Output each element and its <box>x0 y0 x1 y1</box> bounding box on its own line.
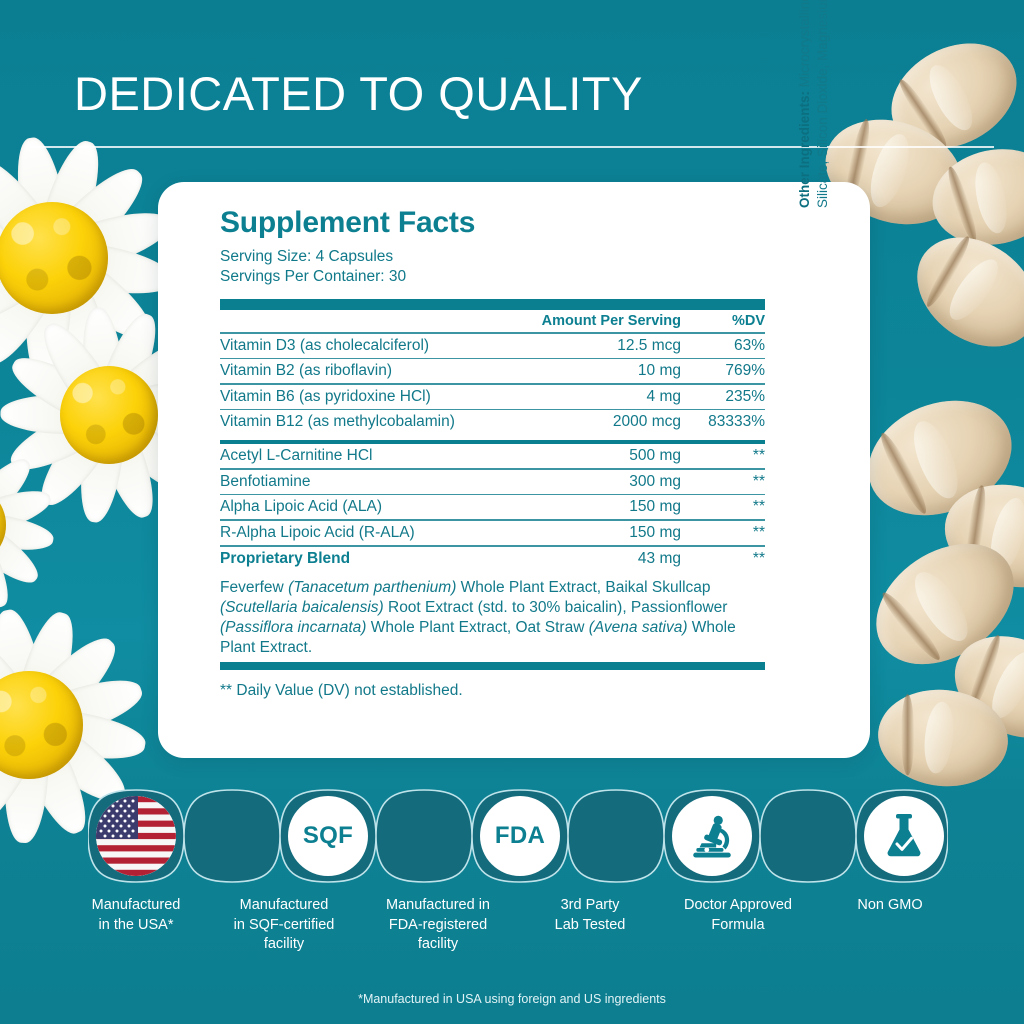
daisy-petal <box>5 346 119 432</box>
daisy-flower <box>0 128 182 388</box>
blend-description: Feverfew (Tanacetum parthenium) Whole Pl… <box>220 578 765 659</box>
daisy-petal <box>0 239 63 339</box>
daisy-petal <box>0 148 69 272</box>
oat-grain <box>873 683 1012 792</box>
supplement-facts-body: Supplement Facts Serving Size: 4 Capsule… <box>220 206 765 700</box>
daisy-petal <box>0 187 61 278</box>
daisy-petal <box>22 669 147 746</box>
badge-sqf-certified[interactable]: SQF <box>288 796 368 876</box>
daisy-petal <box>10 716 98 840</box>
nutrient-amount: 150 mg <box>537 521 687 545</box>
badge-doctor-approved[interactable] <box>864 796 944 876</box>
nutrient-amount: 10 mg <box>537 359 687 383</box>
badge-fda-registered[interactable]: FDA <box>480 796 560 876</box>
daisy-petal <box>9 606 83 731</box>
oat-grain <box>851 380 1024 536</box>
oat-grain <box>938 617 1024 758</box>
oat-grain <box>934 471 1024 601</box>
microscope-icon <box>687 811 737 861</box>
nutrient-name: Vitamin D3 (as cholecalciferol) <box>220 334 537 358</box>
table-header-row: Amount Per Serving %DV <box>220 310 765 332</box>
flask-check-icon <box>881 811 927 861</box>
nutrient-amount: 2000 mcg <box>537 410 687 434</box>
badge-caption-non-gmo: Non GMO <box>806 896 974 916</box>
daisy-petal <box>32 249 122 379</box>
badge-caption-sqf: Manufacturedin SQF-certifiedfacility <box>200 896 368 955</box>
compound-table: Acetyl L-Carnitine HCl 500 mg ** Benfoti… <box>220 444 765 570</box>
badge-caption-usa: Manufacturedin the USA* <box>52 896 220 935</box>
nutrient-dv: 63% <box>687 334 765 358</box>
daisy-petal <box>0 246 71 373</box>
column-header-dv: %DV <box>687 310 765 332</box>
nutrient-amount: 300 mg <box>537 470 687 494</box>
serving-size-line: Serving Size: 4 Capsules <box>220 247 765 267</box>
table-row: Acetyl L-Carnitine HCl 500 mg ** <box>220 444 765 468</box>
daisy-petal <box>36 156 154 273</box>
oat-grain <box>896 215 1024 369</box>
oat-grain <box>924 138 1024 256</box>
daisy-flower <box>0 430 60 620</box>
daisy-petal <box>91 307 167 422</box>
daisy-petal <box>0 620 46 738</box>
daisy-petal <box>75 412 128 524</box>
daisy-petal <box>2 724 50 843</box>
proprietary-blend-row: Proprietary Blend 43 mg ** <box>220 547 765 571</box>
daisy-petal <box>0 512 46 592</box>
daisy-petal <box>14 626 127 740</box>
table-row: Vitamin B2 (as riboflavin) 10 mg 769% <box>220 359 765 383</box>
table-row: R-Alpha Lipoic Acid (R-ALA) 150 mg ** <box>220 521 765 545</box>
dv-footnote: ** Daily Value (DV) not established. <box>220 682 765 700</box>
servings-per-container-line: Servings Per Container: 30 <box>220 267 765 287</box>
daisy-petal <box>46 201 176 279</box>
daisy-petal <box>0 606 50 729</box>
table-top-bar <box>220 299 765 310</box>
daisy-petal <box>9 134 74 262</box>
daisy-petal <box>0 518 17 613</box>
daisy-center <box>0 671 83 779</box>
blend-name: Proprietary Blend <box>220 547 537 571</box>
nutrient-name: Vitamin B2 (as riboflavin) <box>220 359 537 383</box>
usa-flag-icon <box>96 796 176 876</box>
daisy-petal <box>33 314 125 426</box>
daisy-center <box>0 202 108 314</box>
nutrient-name: Vitamin B12 (as methylcobalamin) <box>220 410 537 434</box>
daisy-petal <box>0 482 55 540</box>
daisy-petal <box>25 704 148 766</box>
trust-badge-strip: SQF FDA <box>88 786 948 886</box>
column-header-amount: Amount Per Serving <box>537 310 687 332</box>
compound-rows: Acetyl L-Carnitine HCl 500 mg ** Benfoti… <box>220 444 765 570</box>
table-row: Alpha Lipoic Acid (ALA) 150 mg ** <box>220 495 765 519</box>
daisy-petal <box>91 408 164 523</box>
daisy-petal <box>0 450 39 536</box>
table-row: Vitamin D3 (as cholecalciferol) 12.5 mcg… <box>220 334 765 358</box>
daisy-petal <box>0 435 6 530</box>
nutrient-amount: 150 mg <box>537 495 687 519</box>
header-divider <box>30 146 994 148</box>
vitamin-rows: Vitamin D3 (as cholecalciferol) 12.5 mcg… <box>220 334 765 435</box>
footer-disclaimer: *Manufactured in USA using foreign and U… <box>0 992 1024 1006</box>
daisy-petal <box>30 404 125 515</box>
daisy-petal <box>38 241 161 352</box>
nutrient-name: Benfotiamine <box>220 470 537 494</box>
nutrient-dv: ** <box>687 521 765 545</box>
nutrient-amount: 12.5 mcg <box>537 334 687 358</box>
supplement-facts-card: Supplement Facts Serving Size: 4 Capsule… <box>158 182 870 758</box>
nutrient-amount: 4 mg <box>537 385 687 409</box>
daisy-petal <box>4 398 118 482</box>
daisy-petal <box>78 305 128 417</box>
badge-caption-doctor-approved: Doctor ApprovedFormula <box>654 896 822 935</box>
supplement-facts-title: Supplement Facts <box>220 206 765 240</box>
daisy-petal <box>0 236 53 287</box>
poster-canvas: DEDICATED TO QUALITY Supplement Facts Se… <box>0 0 1024 1024</box>
nutrient-name: Acetyl L-Carnitine HCl <box>220 444 537 468</box>
nutrient-name: R-Alpha Lipoic Acid (R-ALA) <box>220 521 537 545</box>
page-title: DEDICATED TO QUALITY <box>74 66 643 121</box>
nutrient-dv: ** <box>687 470 765 494</box>
badge-manufactured-in-usa[interactable] <box>96 796 176 876</box>
daisy-center <box>60 366 159 465</box>
daisy-petal <box>1 394 110 435</box>
daisy-petal <box>0 704 31 755</box>
fda-text-icon: FDA <box>495 822 545 850</box>
daisy-petal <box>0 714 47 837</box>
nutrient-dv: ** <box>687 495 765 519</box>
daisy-petal <box>22 257 74 382</box>
table-row: Vitamin B12 (as methylcobalamin) 2000 mc… <box>220 410 765 434</box>
daisy-petal <box>0 707 40 805</box>
nutrient-dv: ** <box>687 444 765 468</box>
nutrient-name: Vitamin B6 (as pyridoxine HCl) <box>220 385 537 409</box>
table-bottom-bar <box>220 662 765 670</box>
table-row: Benfotiamine 300 mg ** <box>220 470 765 494</box>
daisy-petal <box>31 135 110 265</box>
table-row: Vitamin B6 (as pyridoxine HCl) 4 mg 235% <box>220 385 765 409</box>
nutrient-dv: 769% <box>687 359 765 383</box>
badge-3rd-party-tested[interactable] <box>672 796 752 876</box>
other-ingredients: Other Ingredients: Microcrystalline Cell… <box>796 0 832 208</box>
column-header-name <box>220 310 537 332</box>
nutrient-dv: 235% <box>687 385 765 409</box>
badge-caption-fda: Manufactured inFDA-registeredfacility <box>354 896 522 955</box>
supplement-facts-table: Amount Per Serving %DV Vitamin D3 (as ch… <box>220 310 765 434</box>
daisy-center <box>0 484 6 566</box>
daisy-petal <box>0 509 56 556</box>
nutrient-name: Alpha Lipoic Acid (ALA) <box>220 495 537 519</box>
daisy-petal <box>0 658 38 744</box>
other-ingredients-label: Other Ingredients: <box>797 91 812 208</box>
blend-amount: 43 mg <box>537 547 687 571</box>
blend-dv: ** <box>687 547 765 571</box>
oat-grain <box>854 519 1024 689</box>
nutrient-amount: 500 mg <box>537 444 687 468</box>
nutrient-dv: 83333% <box>687 410 765 434</box>
daisy-petal <box>48 236 176 302</box>
badge-caption-lab-tested: 3rd PartyLab Tested <box>506 896 674 935</box>
sqf-text-icon: SQF <box>303 822 353 850</box>
